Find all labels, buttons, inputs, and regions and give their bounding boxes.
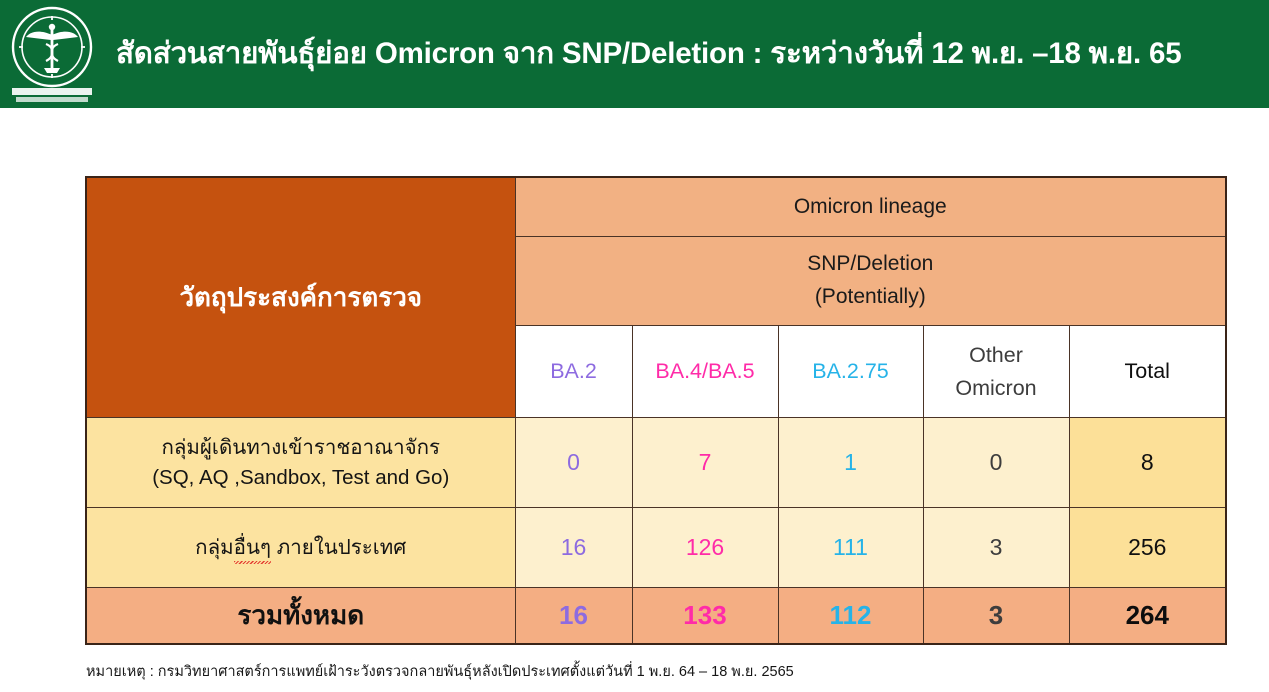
row-label-domestic-post: ภายในประเทศ bbox=[271, 536, 406, 559]
header-omicron-lineage: Omicron lineage bbox=[515, 177, 1226, 237]
row-label-domestic-pre: กลุ่ม bbox=[195, 536, 234, 559]
cell-domestic-total: 256 bbox=[1069, 508, 1226, 588]
cell-total-ba2: 16 bbox=[515, 588, 632, 644]
row-label-grand-total: รวมทั้งหมด bbox=[86, 588, 515, 644]
column-header-other-line1: Other bbox=[924, 339, 1069, 371]
cell-total-ba4-ba5: 133 bbox=[632, 588, 778, 644]
table-header-row-lineage: วัตถุประสงค์การตรวจ Omicron lineage bbox=[86, 177, 1226, 237]
table-total-row: รวมทั้งหมด 16 133 112 3 264 bbox=[86, 588, 1226, 644]
header-snp-deletion: SNP/Deletion (Potentially) bbox=[515, 237, 1226, 326]
cell-travelers-ba2-75: 1 bbox=[778, 418, 923, 508]
row-label-travelers-line1: กลุ่มผู้เดินทางเข้าราชอาณาจักร bbox=[161, 436, 440, 459]
table-row: กลุ่มผู้เดินทางเข้าราชอาณาจักร (SQ, AQ ,… bbox=[86, 418, 1226, 508]
column-header-other-line2: Omicron bbox=[924, 372, 1069, 404]
page-title: สัดส่วนสายพันธุ์ย่อย Omicron จาก SNP/Del… bbox=[100, 37, 1269, 71]
cell-travelers-ba4-ba5: 7 bbox=[632, 418, 778, 508]
header-snp-deletion-line1: SNP/Deletion bbox=[516, 248, 1226, 281]
ministry-of-public-health-logo bbox=[4, 2, 100, 106]
row-label-travelers-line2: (SQ, AQ ,Sandbox, Test and Go) bbox=[87, 463, 515, 493]
table-row: กลุ่มอื่นๆ ภายในประเทศ 16 126 111 3 256 bbox=[86, 508, 1226, 588]
cell-total-ba2-75: 112 bbox=[778, 588, 923, 644]
column-header-ba2: BA.2 bbox=[515, 326, 632, 418]
header-objective: วัตถุประสงค์การตรวจ bbox=[86, 177, 515, 418]
cell-grand-total: 264 bbox=[1069, 588, 1226, 644]
omicron-lineage-table: วัตถุประสงค์การตรวจ Omicron lineage SNP/… bbox=[85, 176, 1227, 645]
row-label-domestic: กลุ่มอื่นๆ ภายในประเทศ bbox=[86, 508, 515, 588]
column-header-ba2-75: BA.2.75 bbox=[778, 326, 923, 418]
cell-travelers-other-omicron: 0 bbox=[923, 418, 1069, 508]
column-header-other-omicron: Other Omicron bbox=[923, 326, 1069, 418]
footnote: หมายเหตุ : กรมวิทยาศาสตร์การแพทย์เฝ้าระว… bbox=[86, 660, 794, 683]
cell-travelers-total: 8 bbox=[1069, 418, 1226, 508]
header-snp-deletion-line2: (Potentially) bbox=[516, 281, 1226, 314]
column-header-ba4-ba5: BA.4/BA.5 bbox=[632, 326, 778, 418]
cell-domestic-ba4-ba5: 126 bbox=[632, 508, 778, 588]
caduceus-emblem-icon bbox=[6, 4, 98, 104]
cell-domestic-other-omicron: 3 bbox=[923, 508, 1069, 588]
column-header-total: Total bbox=[1069, 326, 1226, 418]
row-label-domestic-spellcheck: อื่นๆ bbox=[234, 533, 271, 563]
cell-domestic-ba2-75: 111 bbox=[778, 508, 923, 588]
cell-domestic-ba2: 16 bbox=[515, 508, 632, 588]
page-header: สัดส่วนสายพันธุ์ย่อย Omicron จาก SNP/Del… bbox=[0, 0, 1269, 108]
row-label-travelers: กลุ่มผู้เดินทางเข้าราชอาณาจักร (SQ, AQ ,… bbox=[86, 418, 515, 508]
cell-total-other-omicron: 3 bbox=[923, 588, 1069, 644]
cell-travelers-ba2: 0 bbox=[515, 418, 632, 508]
omicron-lineage-table-container: วัตถุประสงค์การตรวจ Omicron lineage SNP/… bbox=[85, 176, 1225, 645]
